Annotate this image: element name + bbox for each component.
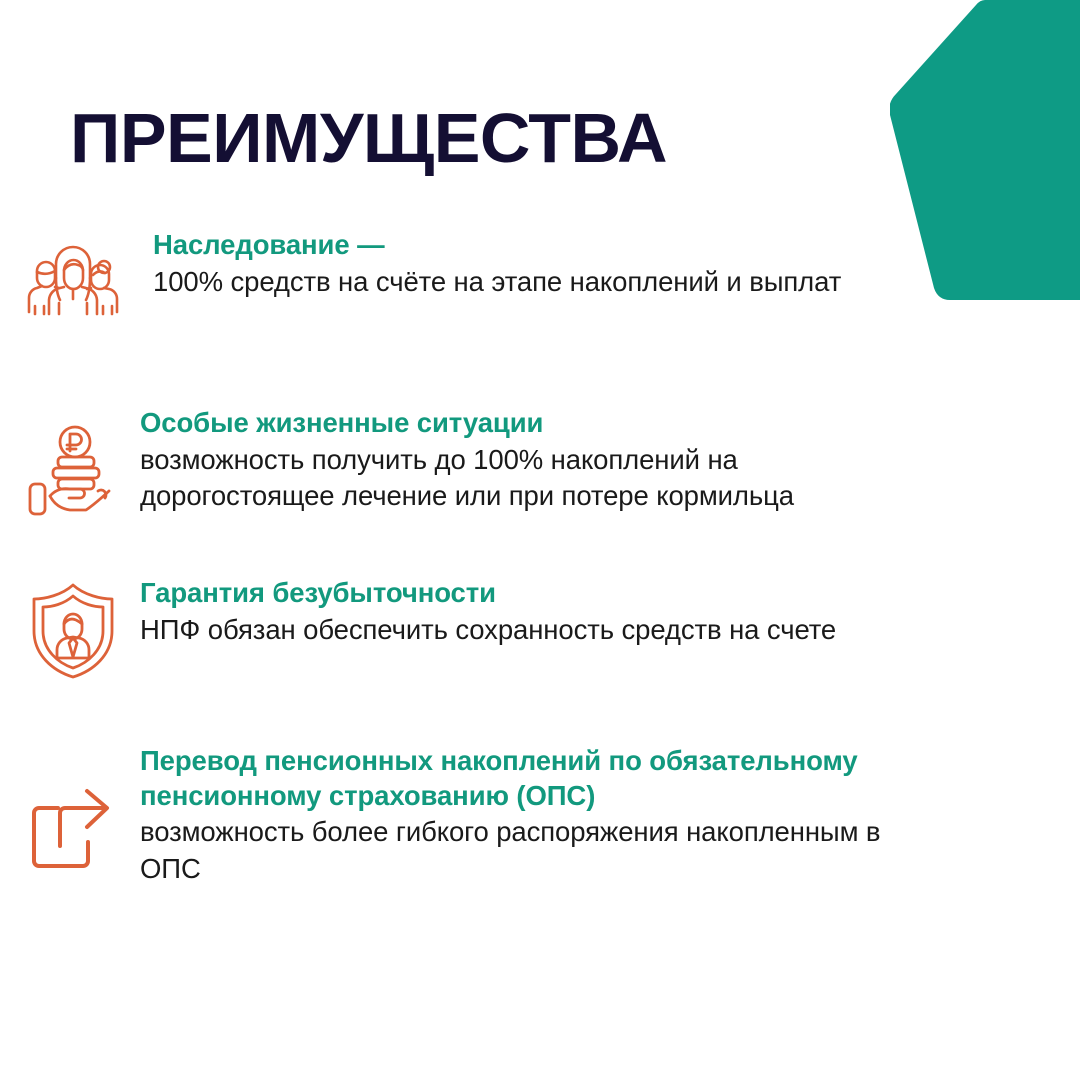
benefit-item-special-situations: Особые жизненные ситуации возможность по…	[0, 348, 1080, 526]
hand-holding-ruble-coins-icon	[0, 406, 140, 524]
shield-person-icon	[0, 576, 140, 680]
benefit-body: НПФ обязан обеспечить сохранность средст…	[140, 612, 900, 649]
benefit-body: возможность получить до 100% накоплений …	[140, 442, 900, 515]
benefit-text-breakeven-guarantee: Гарантия безубыточности НПФ обязан обесп…	[140, 576, 1080, 648]
benefit-body: возможность более гибкого распоряжения н…	[140, 814, 900, 887]
benefit-title: Гарантия безубыточности	[140, 576, 900, 611]
share-arrow-icon	[0, 744, 140, 874]
benefit-title: Перевод пенсионных накоплений по обязате…	[140, 744, 900, 813]
benefit-item-breakeven-guarantee: Гарантия безубыточности НПФ обязан обесп…	[0, 526, 1080, 696]
page-title: ПРЕИМУЩЕСТВА	[70, 103, 667, 173]
benefit-text-special-situations: Особые жизненные ситуации возможность по…	[140, 406, 1080, 515]
slide-root: ПРЕИМУЩЕСТВА	[0, 0, 1080, 1080]
benefit-title: Наследование —	[153, 228, 900, 263]
benefits-list: Наследование — 100% средств на счёте на …	[0, 228, 1080, 887]
benefit-item-ops-transfer: Перевод пенсионных накоплений по обязате…	[0, 696, 1080, 887]
benefit-text-ops-transfer: Перевод пенсионных накоплений по обязате…	[140, 744, 1080, 887]
family-group-icon	[0, 228, 140, 316]
benefit-text-inheritance: Наследование — 100% средств на счёте на …	[140, 228, 1080, 300]
benefit-title: Особые жизненные ситуации	[140, 406, 900, 441]
benefit-body: 100% средств на счёте на этапе накоплени…	[153, 264, 900, 301]
benefit-item-inheritance: Наследование — 100% средств на счёте на …	[0, 228, 1080, 348]
